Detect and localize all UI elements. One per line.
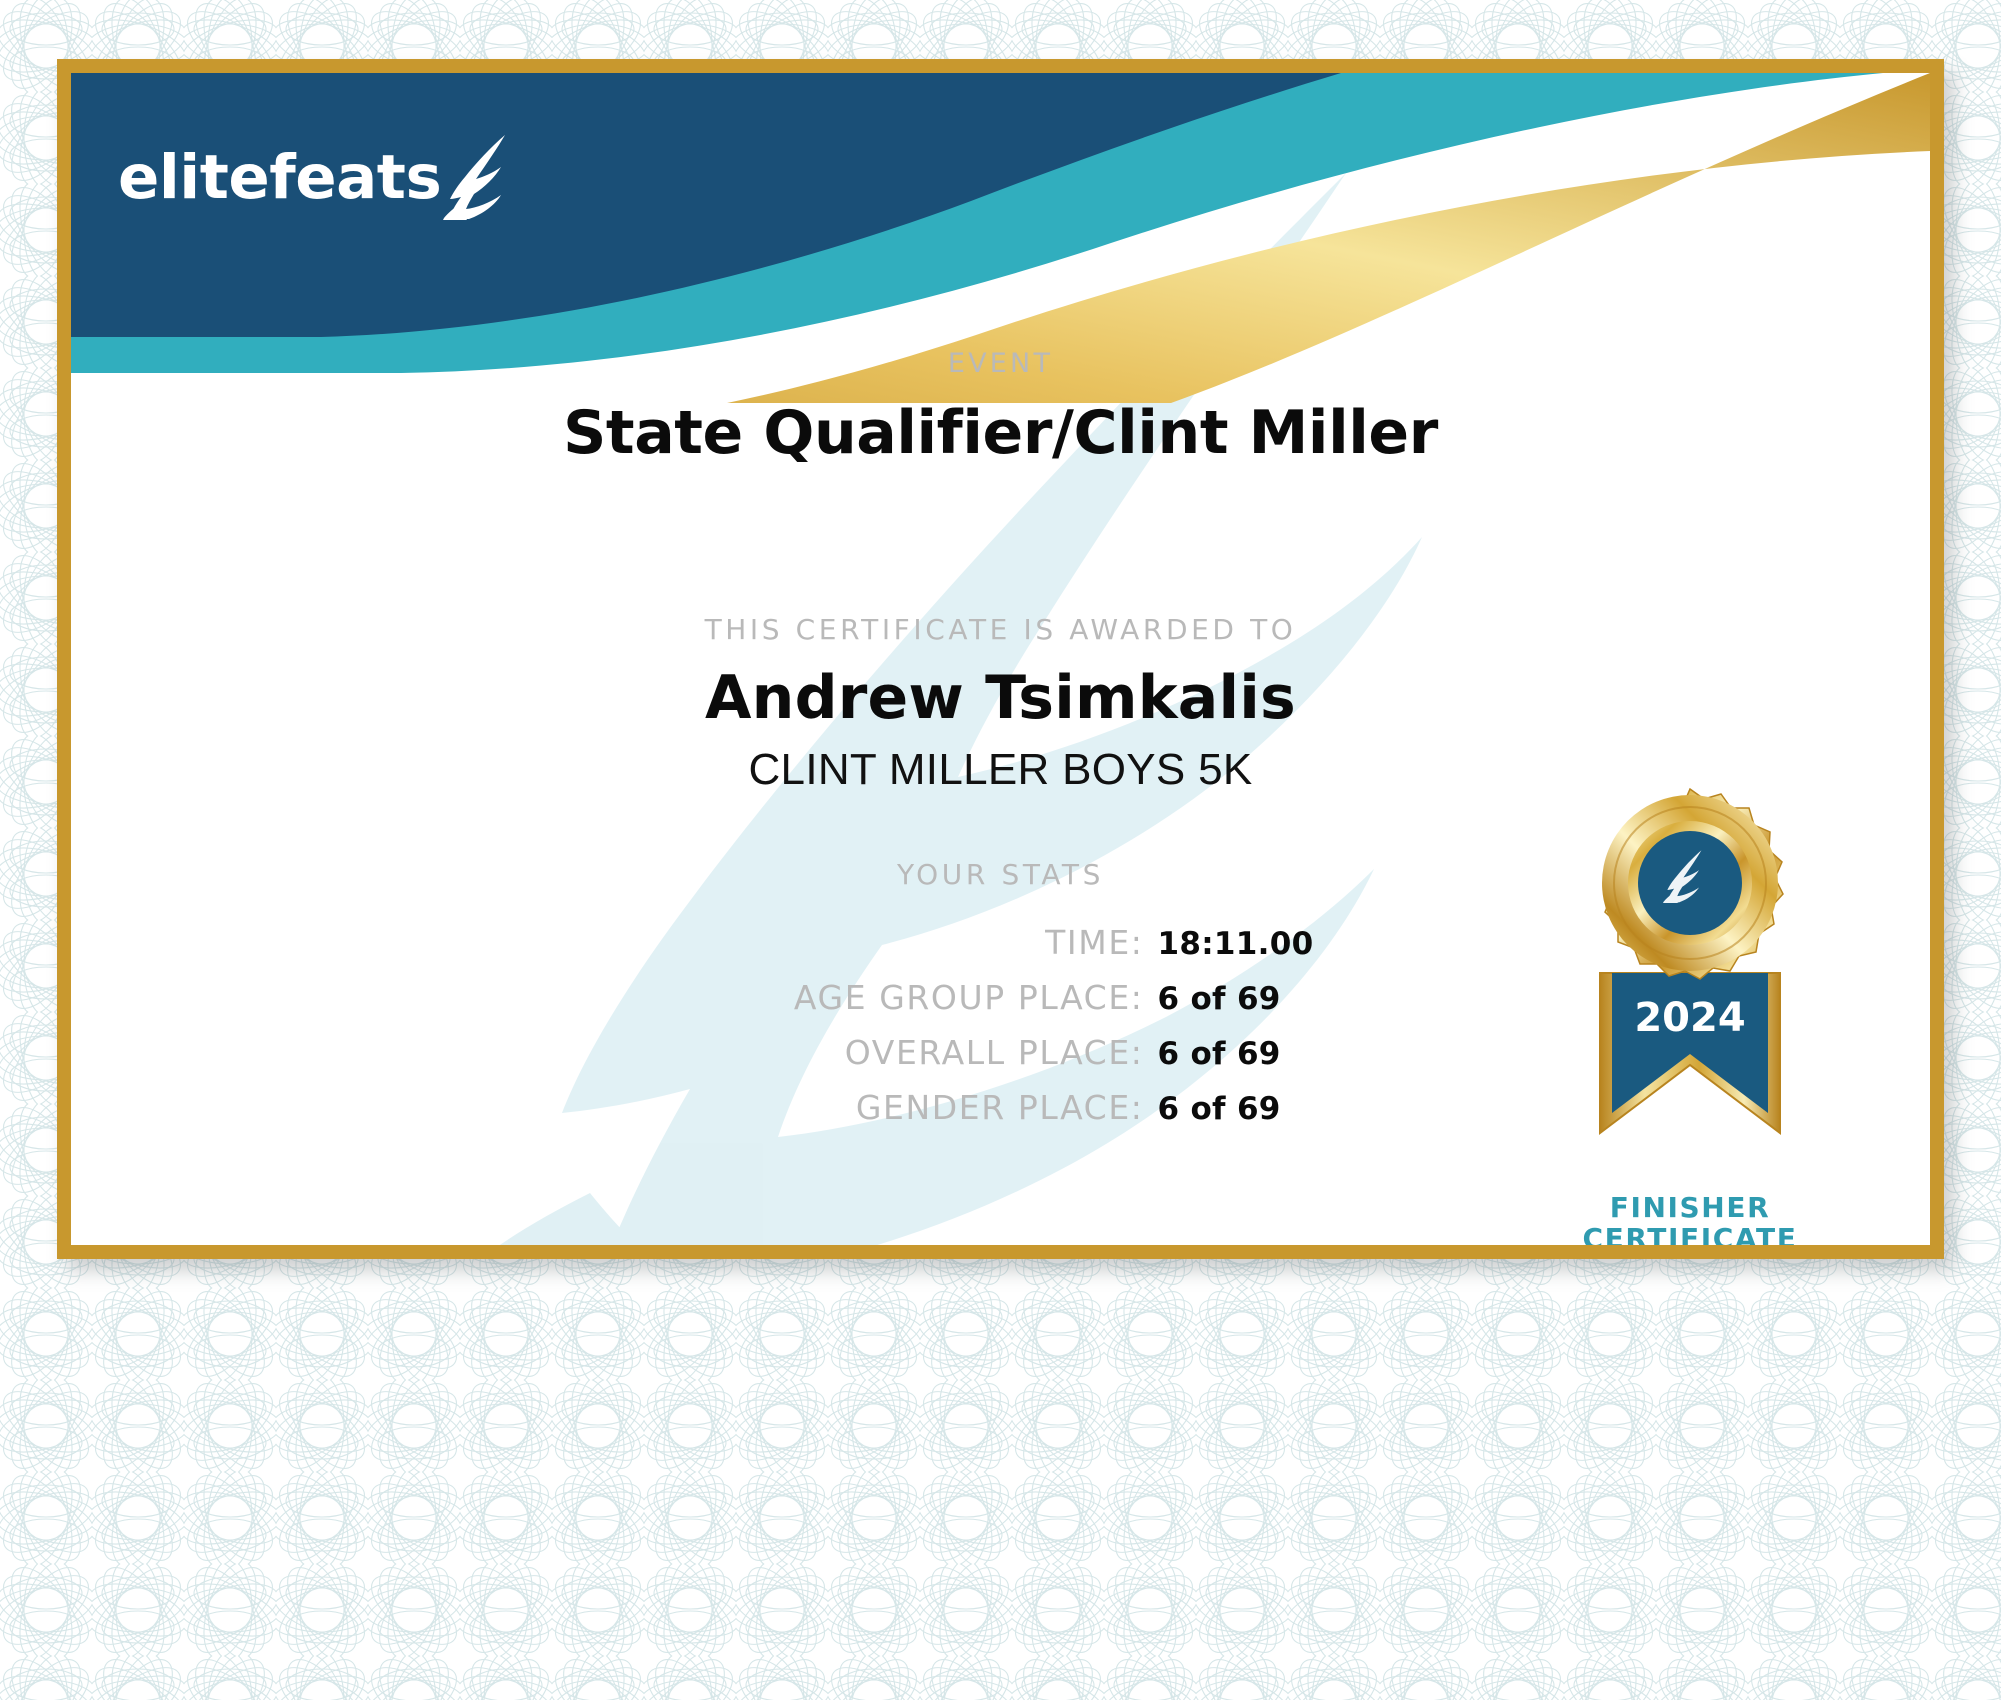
- finisher-seal: 2024 FINISHER CERTIFICATE: [1530, 783, 1850, 1245]
- certificate-body: elitefeats EVENT State Qualifier/Clint M…: [71, 73, 1930, 1245]
- stat-label-overall-place: OVERALL PLACE:: [384, 1033, 1144, 1072]
- stat-label-age-group-place: AGE GROUP PLACE:: [384, 978, 1144, 1017]
- certificate-page: elitefeats EVENT State Qualifier/Clint M…: [0, 0, 2001, 1700]
- seal-caption: FINISHER CERTIFICATE: [1530, 1192, 1850, 1245]
- stat-label-time: TIME:: [384, 923, 1144, 962]
- seal-caption-line2: CERTIFICATE: [1530, 1223, 1850, 1245]
- awarded-to-label: THIS CERTIFICATE IS AWARDED TO: [71, 613, 1930, 646]
- medal-ribbon-icon: 2024: [1540, 783, 1840, 1183]
- event-label: EVENT: [71, 348, 1930, 379]
- certificate-frame: elitefeats EVENT State Qualifier/Clint M…: [57, 59, 1944, 1259]
- stat-label-gender-place: GENDER PLACE:: [384, 1088, 1144, 1127]
- event-title: State Qualifier/Clint Miller: [71, 398, 1930, 468]
- seal-caption-line1: FINISHER: [1530, 1192, 1850, 1223]
- recipient-name: Andrew Tsimkalis: [71, 663, 1930, 733]
- seal-year: 2024: [1634, 995, 1745, 1041]
